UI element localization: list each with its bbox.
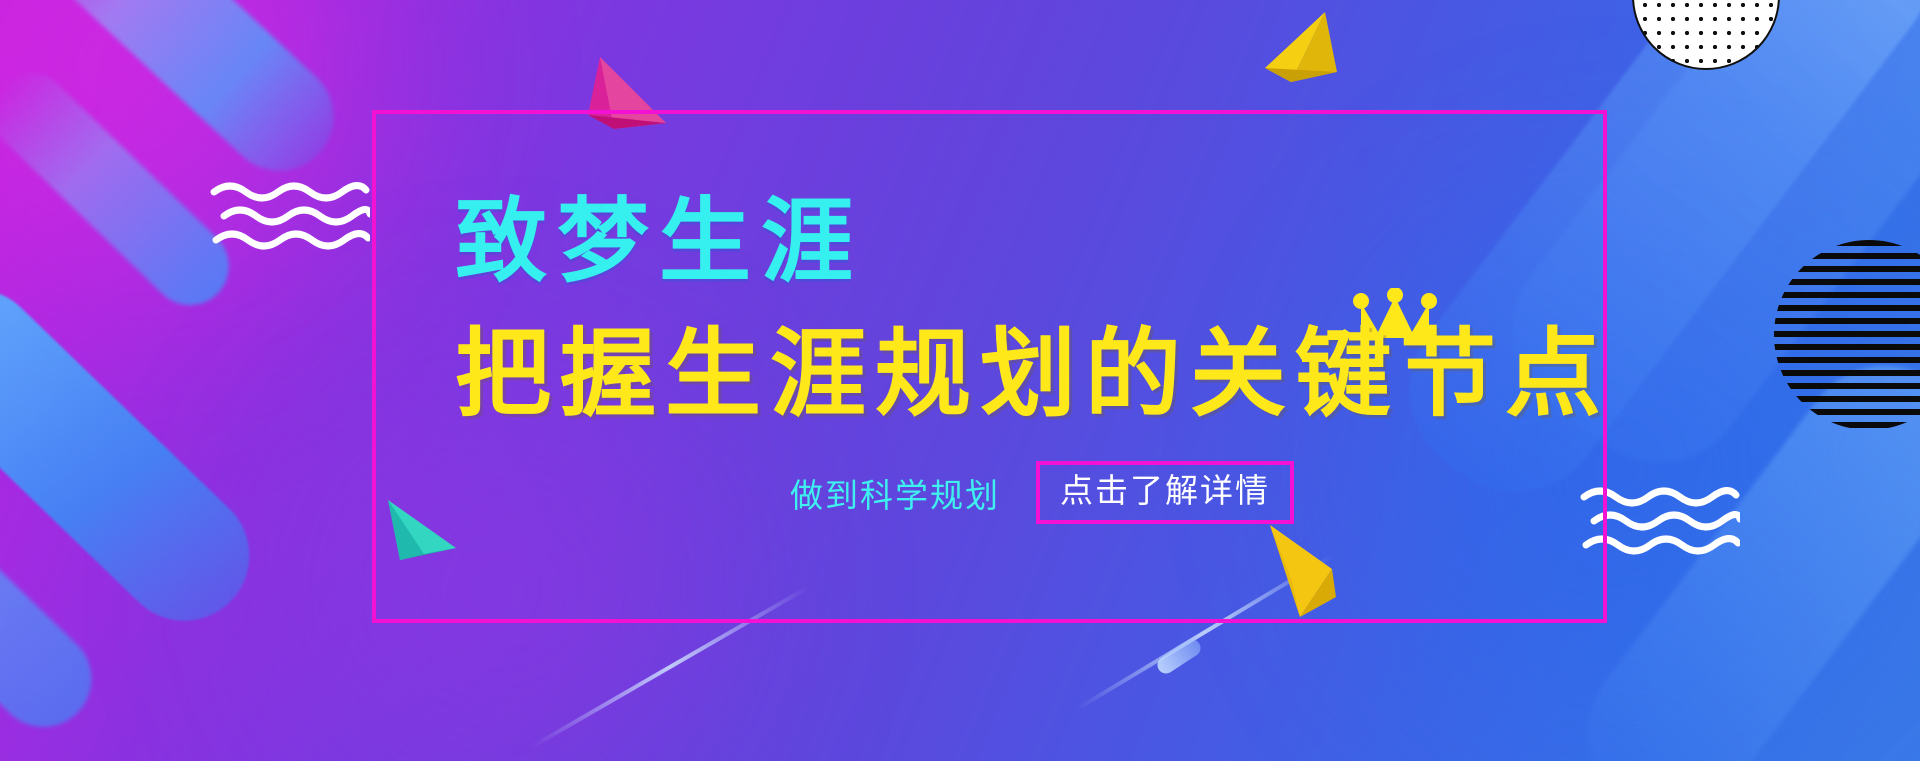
banner-title-secondary: 把握生涯规划的关键节点 xyxy=(455,322,1585,428)
light-streak-1 xyxy=(4,0,356,193)
striped-circle-icon xyxy=(1774,240,1920,430)
learn-more-button[interactable]: 点击了解详情 xyxy=(1036,461,1294,524)
light-streak-2 xyxy=(0,57,245,322)
light-sliver-2 xyxy=(1075,553,1334,711)
triangle-teal-icon xyxy=(384,500,462,571)
light-streak-3 xyxy=(0,262,276,647)
banner-subtitle-text: 做到科学规划 xyxy=(790,469,1000,517)
banner-subtitle-row: 做到科学规划 点击了解详情 xyxy=(790,461,1585,524)
banner-title-primary: 致梦生涯 xyxy=(455,190,1585,296)
light-sliver-1 xyxy=(530,585,809,748)
banner-content: 致梦生涯 把握生涯规划的关键节点 做到科学规划 点击了解详情 xyxy=(455,190,1585,524)
triangle-pink-icon xyxy=(578,57,670,140)
wave-lines-left-icon xyxy=(210,180,370,257)
light-streak-4 xyxy=(0,469,111,746)
triangle-gold-icon xyxy=(1270,525,1352,626)
promo-banner: 致梦生涯 把握生涯规划的关键节点 做到科学规划 点击了解详情 xyxy=(0,0,1920,761)
dotted-circle-icon xyxy=(1632,0,1780,70)
triangle-yellow-icon xyxy=(1255,12,1343,93)
light-sliver-3 xyxy=(1154,636,1204,676)
wave-lines-right-icon xyxy=(1580,485,1740,562)
background-glow-magenta xyxy=(0,0,500,400)
